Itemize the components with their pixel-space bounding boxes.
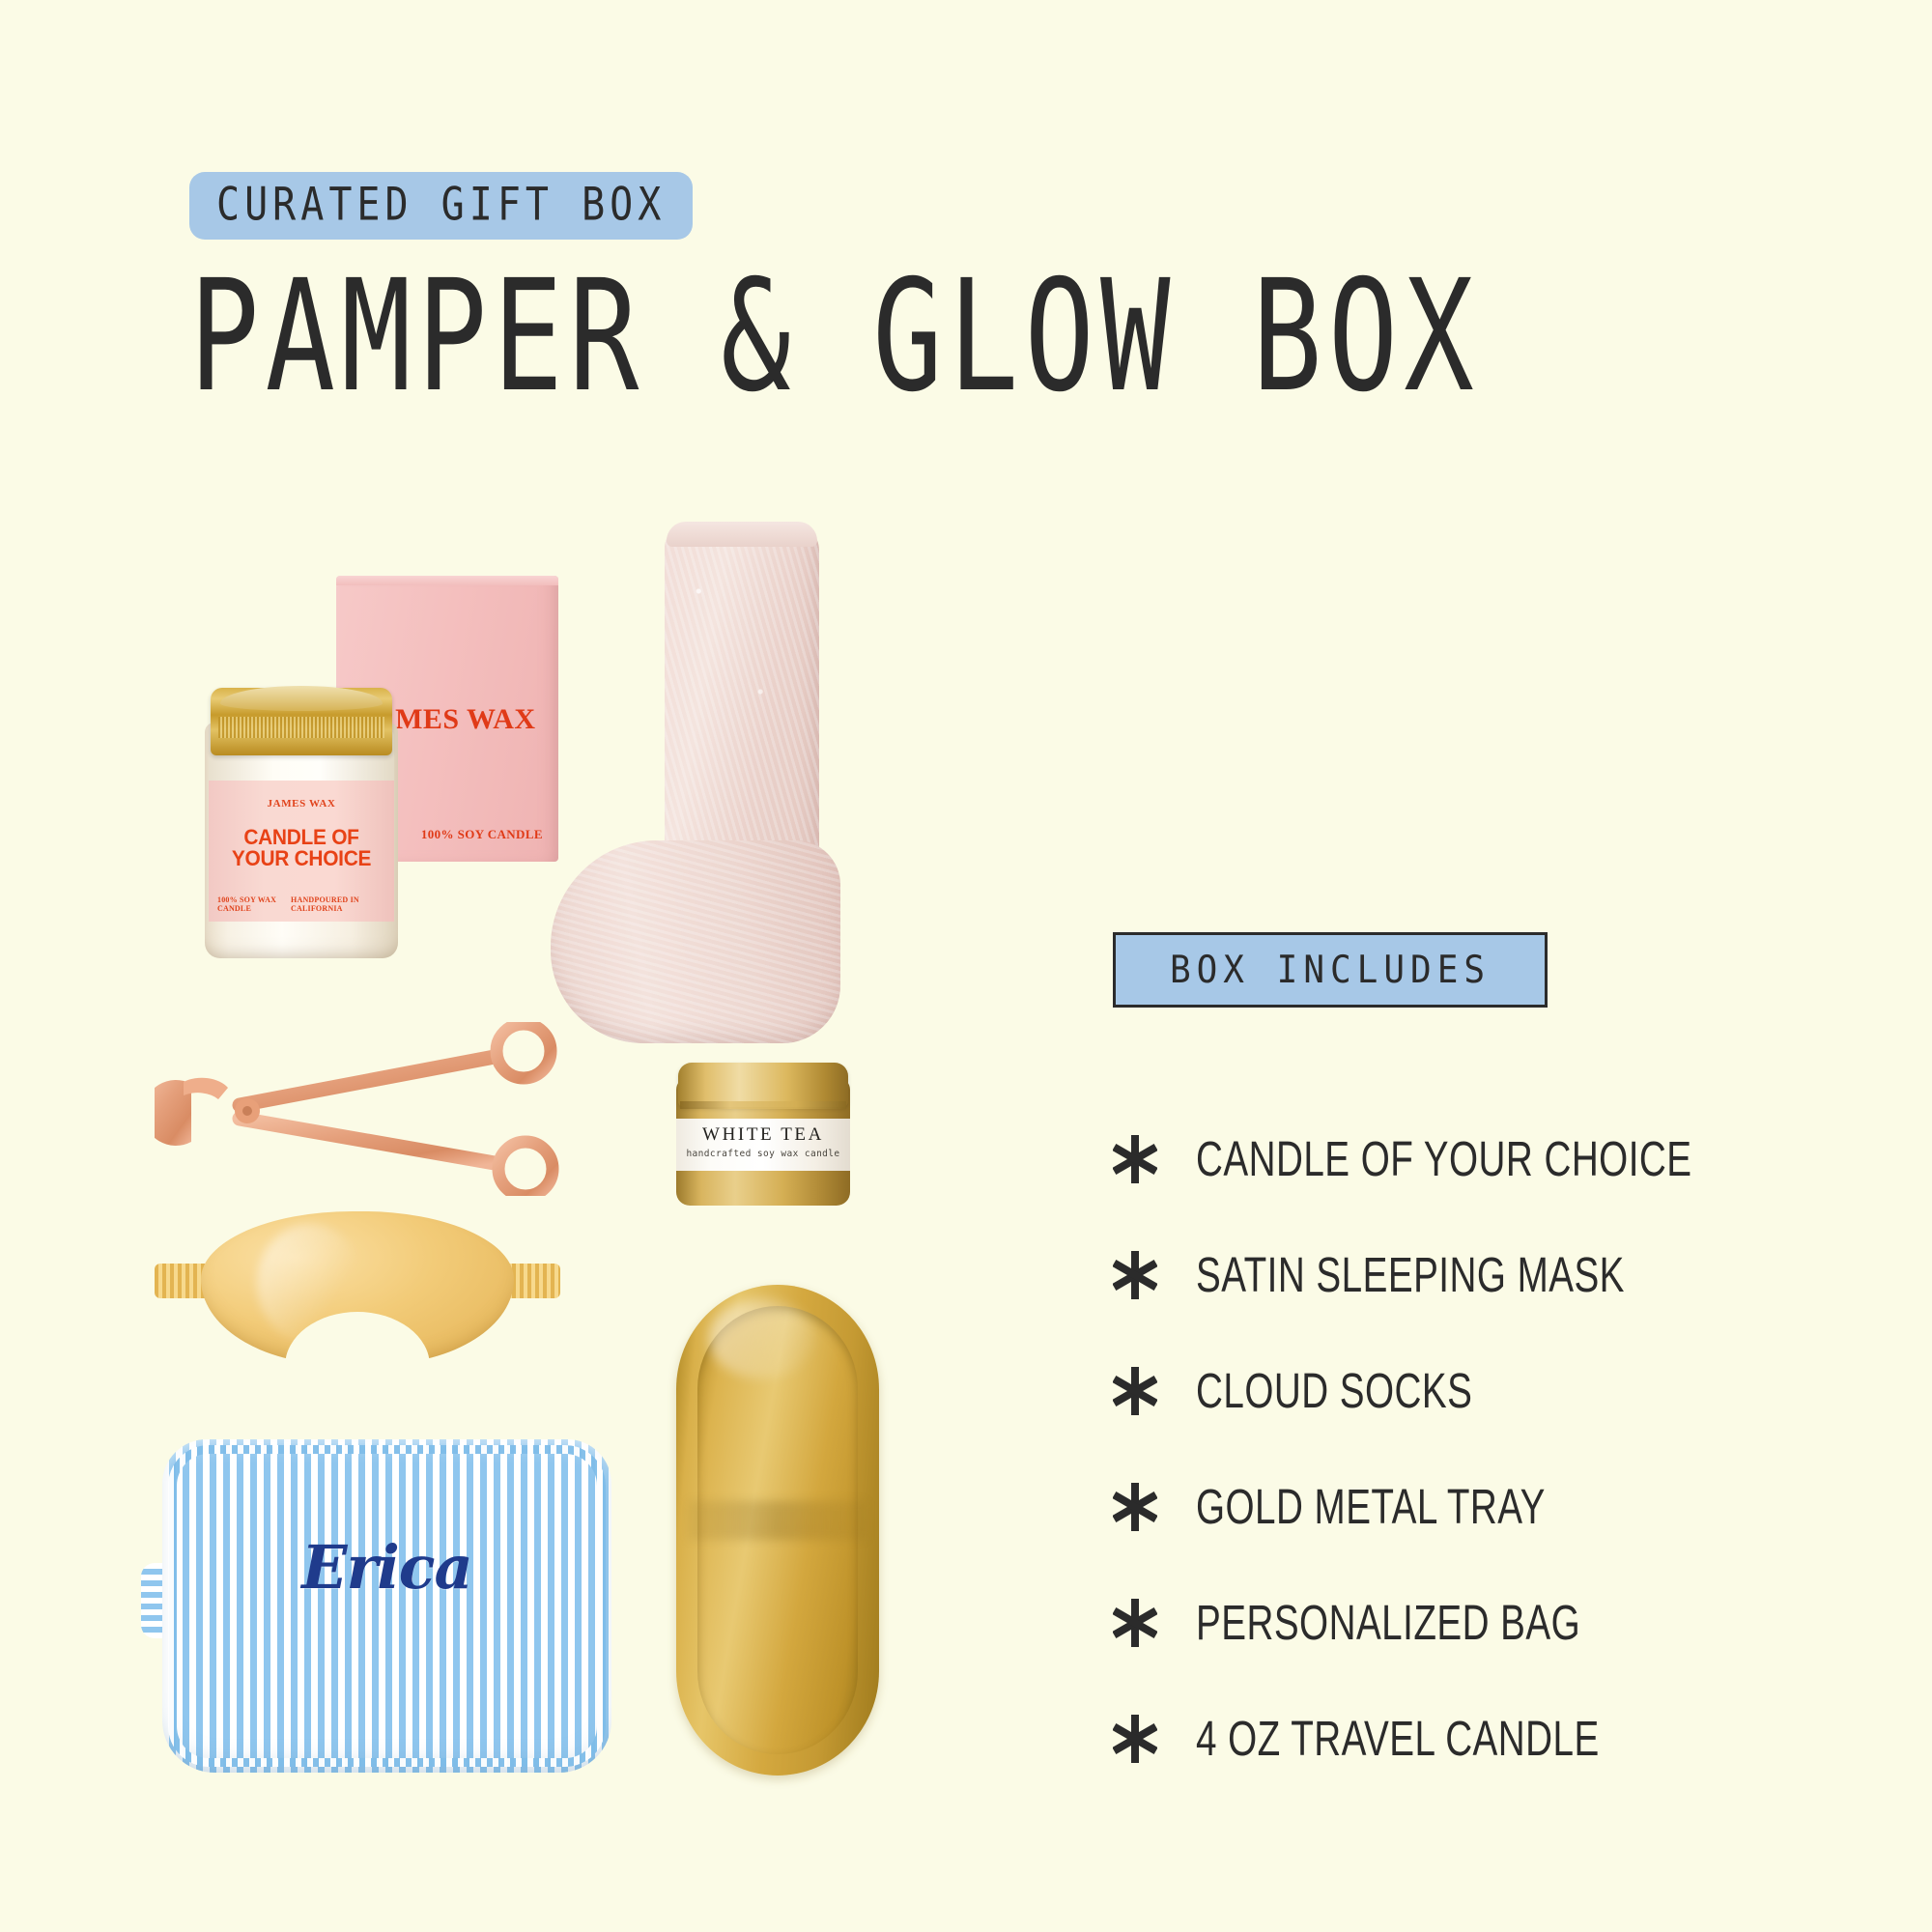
- sock-cuff: [667, 522, 817, 547]
- box-includes-label: BOX INCLUDES: [1170, 948, 1491, 991]
- bag-embroidered-name: Erica: [162, 1532, 611, 1603]
- gold-metal-tray: [676, 1285, 879, 1776]
- asterisk-bullet: [1101, 1251, 1169, 1299]
- candle-label-brand: JAMES WAX: [209, 798, 394, 810]
- candle-label-headline-line1: CANDLE OF: [213, 827, 389, 848]
- asterisk-icon: [1113, 1599, 1157, 1647]
- sock-foot: [551, 840, 840, 1043]
- page-title: PAMPER & GLOW BOX: [189, 259, 1480, 412]
- asterisk-bullet: [1101, 1599, 1169, 1647]
- tray-reflection-band: [689, 1501, 867, 1541]
- product-graphic-canvas: CURATED GIFT BOX PAMPER & GLOW BOX JAMES…: [0, 0, 1932, 1932]
- list-item-label: CANDLE OF YOUR CHOICE: [1196, 1131, 1691, 1188]
- list-item: SATIN SLEEPING MASK: [1101, 1217, 1835, 1333]
- personalized-bag: Erica: [162, 1439, 611, 1773]
- satin-sleep-mask: [155, 1207, 560, 1372]
- candle-jar: JAMES WAX CANDLE OF YOUR CHOICE 100% SOY…: [205, 688, 398, 958]
- candle-label-headline: CANDLE OF YOUR CHOICE: [213, 827, 389, 870]
- box-includes-header: BOX INCLUDES: [1113, 932, 1548, 1008]
- asterisk-bullet: [1101, 1483, 1169, 1531]
- candle-label-footnote-left: 100% SOY WAX CANDLE: [217, 895, 291, 913]
- asterisk-bullet: [1101, 1715, 1169, 1763]
- asterisk-bullet: [1101, 1367, 1169, 1415]
- list-item-label: CLOUD SOCKS: [1196, 1363, 1472, 1420]
- cloud-socks: [551, 522, 850, 1063]
- candle-label-footnote-right: HANDPOURED IN CALIFORNIA: [291, 895, 385, 913]
- box-includes-list: CANDLE OF YOUR CHOICESATIN SLEEPING MASK…: [1101, 1101, 1835, 1797]
- asterisk-icon: [1113, 1483, 1157, 1531]
- asterisk-bullet: [1101, 1135, 1169, 1183]
- tin-label: WHITE TEA handcrafted soy wax candle: [676, 1119, 850, 1171]
- tin-rim: [680, 1101, 846, 1109]
- candle-jar-lid: [211, 688, 392, 755]
- badge-label: CURATED GIFT BOX: [216, 182, 666, 227]
- candle-jar-lid-top: [220, 686, 383, 711]
- list-item: 4 OZ TRAVEL CANDLE: [1101, 1681, 1835, 1797]
- list-item: CANDLE OF YOUR CHOICE: [1101, 1101, 1835, 1217]
- tray-highlight: [709, 1299, 814, 1378]
- wick-trimmer: [155, 1022, 570, 1196]
- asterisk-icon: [1113, 1135, 1157, 1183]
- candle-label-footnotes: 100% SOY WAX CANDLE HANDPOURED IN CALIFO…: [217, 895, 385, 913]
- candle-jar-label: JAMES WAX CANDLE OF YOUR CHOICE 100% SOY…: [209, 781, 394, 922]
- tin-label-subtitle: handcrafted soy wax candle: [676, 1149, 850, 1159]
- list-item: CLOUD SOCKS: [1101, 1333, 1835, 1449]
- asterisk-icon: [1113, 1367, 1157, 1415]
- tin-label-title: WHITE TEA: [676, 1124, 850, 1146]
- asterisk-icon: [1113, 1715, 1157, 1763]
- list-item: PERSONALIZED BAG: [1101, 1565, 1835, 1681]
- asterisk-icon: [1113, 1251, 1157, 1299]
- list-item-label: GOLD METAL TRAY: [1196, 1479, 1546, 1536]
- travel-candle-tin: WHITE TEA handcrafted soy wax candle: [676, 1063, 850, 1206]
- curated-gift-box-badge: CURATED GIFT BOX: [189, 172, 693, 240]
- list-item: GOLD METAL TRAY: [1101, 1449, 1835, 1565]
- list-item-label: SATIN SLEEPING MASK: [1196, 1247, 1625, 1304]
- mask-body: [201, 1211, 514, 1364]
- bag-piping: [168, 1445, 606, 1767]
- candle-jar-lid-ribs: [218, 717, 384, 738]
- product-box-top-edge: [336, 576, 558, 585]
- candle-label-headline-line2: YOUR CHOICE: [213, 848, 389, 869]
- list-item-label: 4 OZ TRAVEL CANDLE: [1196, 1711, 1600, 1768]
- wick-trimmer-illustration: [155, 1022, 570, 1196]
- product-box-subtext: 100% SOY CANDLE: [421, 827, 543, 842]
- list-item-label: PERSONALIZED BAG: [1196, 1595, 1580, 1652]
